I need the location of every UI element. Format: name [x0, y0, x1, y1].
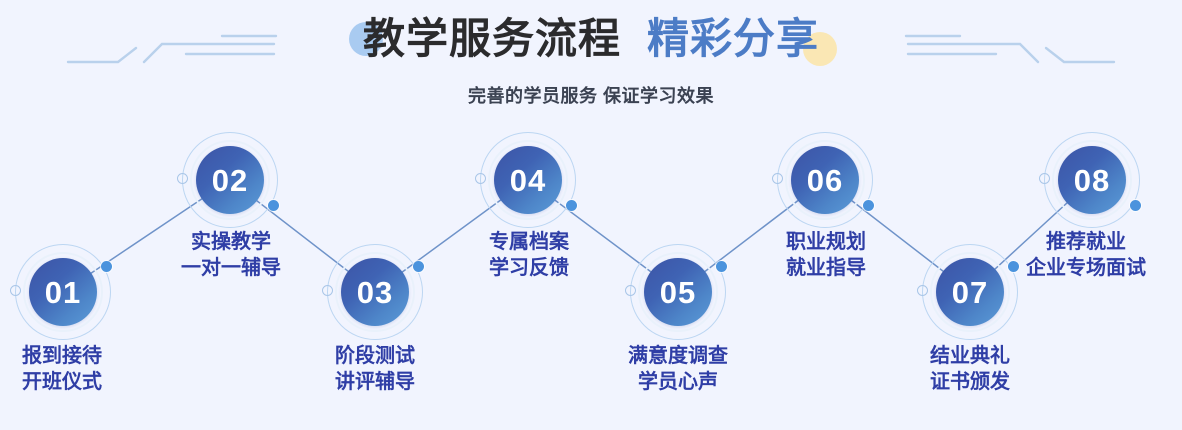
step-label-07: 结业典礼 证书颁发	[890, 343, 1050, 396]
step-node-01[interactable]: 01	[15, 244, 111, 340]
header: 教学服务流程 精彩分享 完善的学员服务 保证学习效果	[0, 0, 1182, 125]
node-connector-dot-icon	[268, 200, 279, 211]
node-connector-dot-icon	[101, 261, 112, 272]
step-label-line2: 学员心声	[588, 369, 768, 395]
node-hollow-dot-icon	[1039, 173, 1050, 184]
step-node-08[interactable]: 08	[1044, 132, 1140, 228]
step-number: 08	[1074, 165, 1110, 196]
page-subtitle: 完善的学员服务 保证学习效果	[0, 82, 1182, 108]
step-label-01: 报到接待 开班仪式	[0, 343, 142, 396]
step-number: 03	[357, 277, 393, 308]
step-label-line1: 满意度调查	[588, 343, 768, 369]
step-number: 06	[807, 165, 843, 196]
infographic-canvas: 教学服务流程 精彩分享 完善的学员服务 保证学习效果 01 报到接待 开班仪式	[0, 0, 1182, 430]
node-hollow-dot-icon	[475, 173, 486, 184]
node-disc: 08	[1058, 146, 1126, 214]
step-label-line1: 实操教学	[150, 229, 312, 255]
node-connector-dot-icon	[716, 261, 727, 272]
node-connector-dot-icon	[413, 261, 424, 272]
node-connector-dot-icon	[566, 200, 577, 211]
step-node-05[interactable]: 05	[630, 244, 726, 340]
page-title-primary: 教学服务流程	[363, 18, 621, 60]
page-title-accent: 精彩分享	[647, 18, 819, 60]
step-label-line1: 结业典礼	[890, 343, 1050, 369]
step-label-04: 专属档案 学习反馈	[448, 229, 610, 282]
node-disc: 02	[196, 146, 264, 214]
node-hollow-dot-icon	[625, 285, 636, 296]
step-label-line2: 学习反馈	[448, 255, 610, 281]
node-hollow-dot-icon	[322, 285, 333, 296]
step-number: 05	[660, 277, 696, 308]
step-number: 07	[952, 277, 988, 308]
step-label-05: 满意度调查 学员心声	[588, 343, 768, 396]
node-hollow-dot-icon	[917, 285, 928, 296]
step-number: 04	[510, 165, 546, 196]
step-label-line2: 讲评辅导	[295, 369, 455, 395]
node-disc: 05	[644, 258, 712, 326]
step-node-03[interactable]: 03	[327, 244, 423, 340]
step-label-line2: 开班仪式	[0, 369, 142, 395]
step-node-04[interactable]: 04	[480, 132, 576, 228]
step-label-line2: 一对一辅导	[150, 255, 312, 281]
step-label-08: 推荐就业 企业专场面试	[990, 229, 1182, 282]
step-number: 02	[212, 165, 248, 196]
step-label-line2: 就业指导	[745, 255, 907, 281]
step-label-line1: 报到接待	[0, 343, 142, 369]
step-label-line1: 职业规划	[745, 229, 907, 255]
process-flow: 01 报到接待 开班仪式 02 实操教学 一对一辅导 03	[0, 125, 1182, 430]
step-label-06: 职业规划 就业指导	[745, 229, 907, 282]
step-label-02: 实操教学 一对一辅导	[150, 229, 312, 282]
step-node-06[interactable]: 06	[777, 132, 873, 228]
step-label-line2: 证书颁发	[890, 369, 1050, 395]
node-hollow-dot-icon	[772, 173, 783, 184]
node-hollow-dot-icon	[10, 285, 21, 296]
step-label-line2: 企业专场面试	[990, 255, 1182, 281]
node-disc: 01	[29, 258, 97, 326]
node-connector-dot-icon	[863, 200, 874, 211]
step-label-03: 阶段测试 讲评辅导	[295, 343, 455, 396]
step-label-line1: 推荐就业	[990, 229, 1182, 255]
node-disc: 03	[341, 258, 409, 326]
node-hollow-dot-icon	[177, 173, 188, 184]
step-number: 01	[45, 277, 81, 308]
step-label-line1: 专属档案	[448, 229, 610, 255]
step-label-line1: 阶段测试	[295, 343, 455, 369]
title-row: 教学服务流程 精彩分享	[0, 18, 1182, 60]
step-node-02[interactable]: 02	[182, 132, 278, 228]
node-disc: 06	[791, 146, 859, 214]
node-disc: 04	[494, 146, 562, 214]
node-connector-dot-icon	[1130, 200, 1141, 211]
